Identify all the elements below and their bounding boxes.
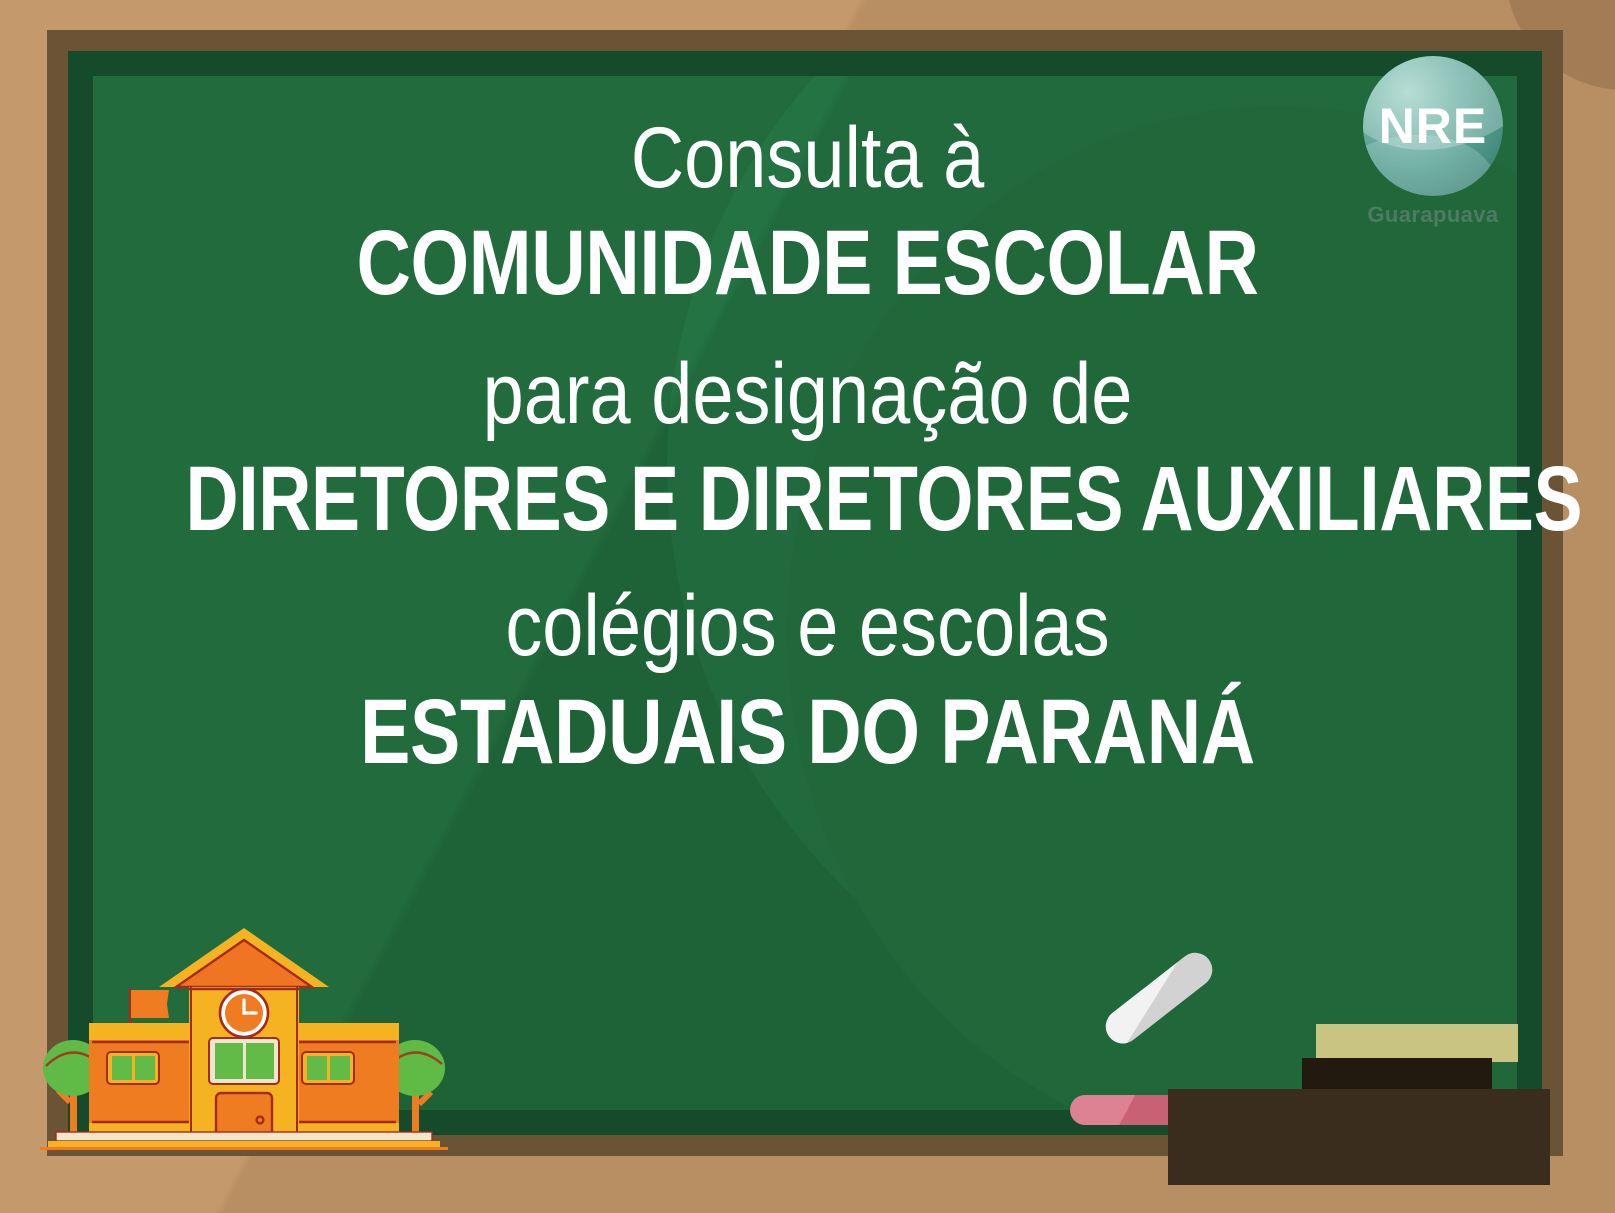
eraser-felt-icon xyxy=(1316,1024,1518,1062)
nre-logo: NRE Guarapuava xyxy=(1333,56,1533,228)
chalk-tray-icon xyxy=(1168,1089,1550,1185)
poster-canvas: NRE Guarapuava Consulta à COMUNIDADE ESC… xyxy=(0,0,1615,1213)
headline-line-4: DIRETORES E DIRETORES AUXILIARES xyxy=(186,445,1430,554)
clock-icon xyxy=(220,989,268,1037)
headline-line-1: Consulta à xyxy=(139,108,1476,209)
headline-line-3: para designação de xyxy=(139,344,1476,445)
chalk-tray-lip xyxy=(1302,1058,1492,1092)
headline-line-5: colégios e escolas xyxy=(139,576,1476,677)
headline-line-6: ESTADUAIS DO PARANÁ xyxy=(170,678,1445,787)
headline-line-2: COMUNIDADE ESCOLAR xyxy=(170,209,1445,318)
nre-sphere-icon: NRE xyxy=(1363,56,1503,196)
nre-subtitle: Guarapuava xyxy=(1333,202,1533,228)
school-building-icon xyxy=(34,890,454,1150)
nre-acronym: NRE xyxy=(1363,56,1503,196)
